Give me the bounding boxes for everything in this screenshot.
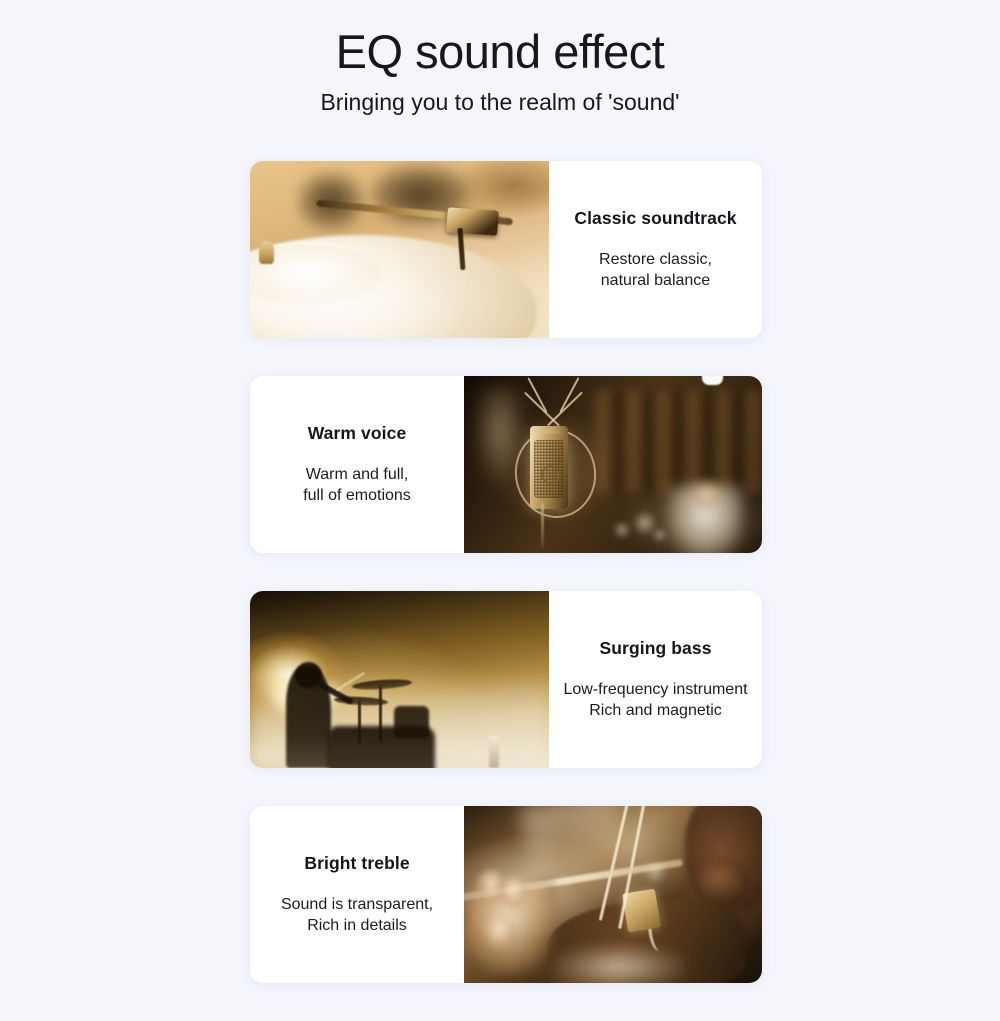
card-heading: Warm voice [308, 423, 407, 444]
drummer-silhouette-stage-photo [250, 591, 549, 768]
card-heading: Bright treble [304, 853, 409, 874]
stage-microphone [489, 736, 499, 768]
card-description: Sound is transparent, Rich in details [281, 894, 433, 937]
bokeh-light-3 [652, 528, 667, 542]
card-description: Restore classic, natural balance [599, 249, 712, 292]
feature-card-classic-soundtrack[interactable]: Classic soundtrack Restore classic, natu… [250, 161, 762, 338]
tom-drum [394, 706, 430, 738]
card-text-panel: Bright treble Sound is transparent, Rich… [250, 806, 464, 983]
violinist-finger-2 [500, 877, 527, 907]
studio-wall-blur [595, 390, 762, 493]
card-description: Low-frequency instrument Rich and magnet… [563, 679, 747, 722]
warm-light-glow [250, 161, 549, 338]
bokeh-light-2 [613, 521, 631, 539]
bokeh-light [643, 859, 667, 884]
card-heading: Classic soundtrack [574, 208, 736, 229]
violin-sheen [553, 944, 684, 983]
image-top-notch [702, 376, 723, 385]
violinist-playing-violin-photo [464, 806, 762, 983]
violinist-finger-3 [482, 916, 515, 950]
card-description: Warm and full, full of emotions [303, 464, 411, 507]
card-text-panel: Classic soundtrack Restore classic, natu… [549, 161, 762, 338]
shock-mount-strut-3 [527, 377, 547, 412]
violin-bridge [622, 889, 660, 933]
page-title: EQ sound effect [0, 26, 1000, 79]
card-text-panel: Warm voice Warm and full, full of emotio… [250, 376, 464, 553]
shock-mount-strut-2 [547, 392, 583, 427]
page-subtitle: Bringing you to the realm of 'sound' [0, 89, 1000, 117]
card-text-panel: Surging bass Low-frequency instrument Ri… [549, 591, 762, 768]
cymbal-stand-1 [379, 685, 382, 742]
feature-card-list: Classic soundtrack Restore classic, natu… [250, 161, 762, 1021]
studio-condenser-microphone-photo [464, 376, 762, 553]
violinist-chin [696, 859, 750, 905]
feature-card-warm-voice[interactable]: Warm voice Warm and full, full of emotio… [250, 376, 762, 553]
turntable-vinyl-record-photo [250, 161, 549, 338]
feature-card-bright-treble[interactable]: Bright treble Sound is transparent, Rich… [250, 806, 762, 983]
cymbal-stand-2 [358, 701, 361, 743]
feature-card-surging-bass[interactable]: Surging bass Low-frequency instrument Ri… [250, 591, 762, 768]
card-heading: Surging bass [599, 638, 711, 659]
blurred-person-head [693, 479, 720, 509]
page-header: EQ sound effect Bringing you to the real… [0, 0, 1000, 116]
